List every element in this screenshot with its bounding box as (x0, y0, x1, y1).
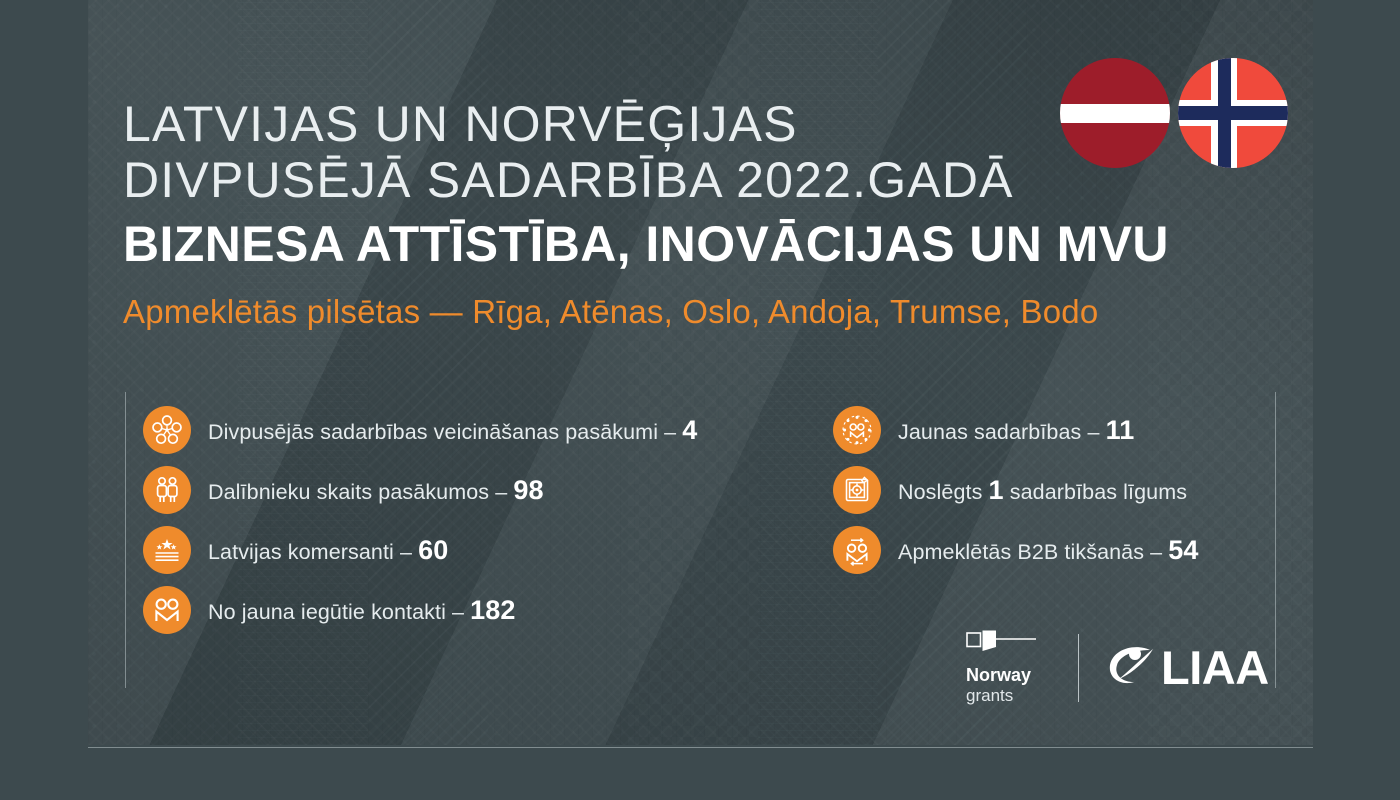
latvia-flag-icon (1060, 58, 1170, 168)
latvia-flag-white-band (1060, 104, 1170, 123)
stat-label: No jauna iegūtie kontakti – 182 (208, 595, 516, 626)
logo-divider (1078, 634, 1079, 702)
norway-flag-horizontal-blue (1178, 106, 1288, 119)
divider-bottom-horizontal (88, 747, 1313, 748)
norway-flag-icon (1178, 58, 1288, 168)
norway-logo-sub: grants (966, 686, 1013, 706)
stat-row: Dalībnieku skaits pasākumos – 98 (143, 460, 833, 520)
liaa-swoosh-icon (1105, 641, 1157, 694)
stats-right-column: Jaunas sadarbības – 11 (833, 400, 1273, 640)
norway-grants-logo: Norway grants (966, 629, 1052, 706)
stat-label: Noslēgts 1 sadarbības līgums (898, 475, 1187, 506)
stat-label: Apmeklētās B2B tikšanās – 54 (898, 535, 1199, 566)
stat-label: Latvijas komersanti – 60 (208, 535, 448, 566)
stat-row: Jaunas sadarbības – 11 (833, 400, 1273, 460)
norway-logo-name: Norway (966, 665, 1031, 686)
title-line-1: LATVIJAS UN NORVĒĢIJAS (123, 96, 1123, 152)
divider-right-vertical (1275, 392, 1276, 688)
stat-row: Divpusējās sadarbības veicināšanas pasāk… (143, 400, 833, 460)
title-line-2: DIVPUSĒJĀ SADARBĪBA 2022.GADĀ (123, 152, 1123, 208)
liaa-logo: LIAA (1105, 641, 1269, 694)
header: LATVIJAS UN NORVĒĢIJAS DIVPUSĒJĀ SADARBĪ… (123, 96, 1123, 331)
title-bold: BIZNESA ATTĪSTĪBA, INOVĀCIJAS UN MVU (123, 216, 1123, 272)
stat-label: Jaunas sadarbības – 11 (898, 415, 1134, 446)
logo-group: Norway grants LIAA (966, 629, 1269, 706)
two-people-icon (143, 466, 191, 514)
stats-left-column: Divpusējās sadarbības veicināšanas pasāk… (143, 400, 833, 640)
statistics-section: Divpusējās sadarbības veicināšanas pasāk… (143, 400, 1273, 640)
network-nodes-icon (143, 406, 191, 454)
liaa-logo-text: LIAA (1161, 644, 1269, 691)
divider-left-vertical (125, 392, 126, 688)
stat-row: Apmeklētās B2B tikšanās – 54 (833, 520, 1273, 580)
stat-row: Noslēgts 1 sadarbības līgums (833, 460, 1273, 520)
flag-group (1060, 58, 1288, 168)
stat-row: No jauna iegūtie kontakti – 182 (143, 580, 833, 640)
stat-label: Dalībnieku skaits pasākumos – 98 (208, 475, 544, 506)
stat-row: Latvijas komersanti – 60 (143, 520, 833, 580)
subtitle-visited-cities: Apmeklētās pilsētas — Rīga, Atēnas, Oslo… (123, 293, 1123, 331)
stat-label: Divpusējās sadarbības veicināšanas pasāk… (208, 415, 697, 446)
norway-grants-mark-icon (966, 629, 1052, 660)
contacts-icon (143, 586, 191, 634)
partnership-network-icon (833, 406, 881, 454)
stars-building-icon (143, 526, 191, 574)
contract-document-icon (833, 466, 881, 514)
b2b-meeting-icon (833, 526, 881, 574)
